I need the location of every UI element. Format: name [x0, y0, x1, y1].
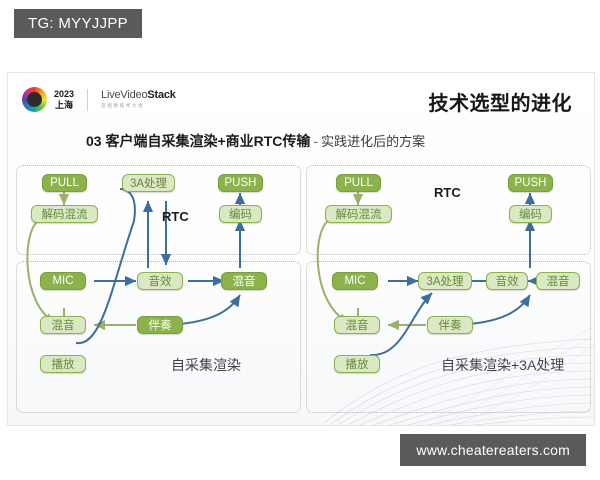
conference-logo-icon [22, 87, 47, 112]
page-title: 技术选型的进化 [429, 87, 573, 116]
slide-subtitle: 03 客户端自采集渲染+商业RTC传输-实践进化后的方案 [86, 131, 425, 151]
node-accompaniment[interactable]: 伴奏 [137, 316, 183, 334]
slide-header: 2023 上海 LiveVideoStack 音视频技术大会 技术选型的进化 [8, 73, 594, 125]
node-audio-fx[interactable]: 音效 [137, 272, 183, 290]
panel-caption-left: 自采集渲染 [171, 355, 241, 375]
node-mix-local[interactable]: 混音 [40, 316, 86, 334]
lvs-part-live: Live [101, 89, 120, 101]
livevideostack-logo: LiveVideoStack 音视频技术大会 [101, 90, 176, 108]
rtc-label: RTC [434, 185, 461, 200]
subtitle-dash: - [313, 133, 318, 149]
node-mix-rtc[interactable]: 混音 [536, 272, 580, 290]
lvs-subtitle: 音视频技术大会 [101, 104, 176, 109]
brand-city: 上海 [54, 100, 74, 110]
brand-year-city: 2023 上海 [54, 89, 74, 109]
node-decode-mix[interactable]: 解码混流 [325, 205, 392, 223]
node-mix-rtc[interactable]: 混音 [221, 272, 267, 290]
telegram-watermark: TG: MYYJJPP [14, 9, 142, 38]
brand-divider [87, 89, 88, 111]
node-pull[interactable]: PULL [42, 174, 87, 192]
lvs-wordmark: LiveVideoStack [101, 90, 176, 102]
node-push[interactable]: PUSH [508, 174, 553, 192]
subtitle-number: 03 [86, 133, 102, 149]
decorative-waves [324, 305, 594, 425]
node-3a[interactable]: 3A处理 [418, 272, 472, 290]
rtc-label: RTC [162, 209, 189, 224]
brand-year: 2023 [54, 89, 74, 99]
node-pull[interactable]: PULL [336, 174, 381, 192]
node-decode-mix[interactable]: 解码混流 [31, 205, 98, 223]
node-encode[interactable]: 编码 [219, 205, 262, 223]
subtitle-main: 客户端自采集渲染+商业RTC传输 [105, 133, 310, 149]
node-encode[interactable]: 编码 [509, 205, 552, 223]
node-3a[interactable]: 3A处理 [122, 174, 175, 192]
diagram-panel-left: PULL 3A处理 PUSH 解码混流 编码 RTC MIC 音效 混音 混音 … [16, 165, 301, 413]
subtitle-tail: 实践进化后的方案 [321, 134, 425, 149]
presentation-slide: 2023 上海 LiveVideoStack 音视频技术大会 技术选型的进化 0… [7, 72, 595, 426]
node-audio-fx[interactable]: 音效 [486, 272, 528, 290]
node-playback[interactable]: 播放 [40, 355, 86, 373]
node-push[interactable]: PUSH [218, 174, 263, 192]
lvs-part-video: Video [120, 89, 147, 101]
node-mic[interactable]: MIC [332, 272, 378, 290]
node-mic[interactable]: MIC [40, 272, 86, 290]
site-watermark: www.cheatereaters.com [400, 434, 586, 466]
conference-brand: 2023 上海 LiveVideoStack 音视频技术大会 [22, 87, 176, 112]
lvs-part-stack: Stack [147, 89, 175, 101]
